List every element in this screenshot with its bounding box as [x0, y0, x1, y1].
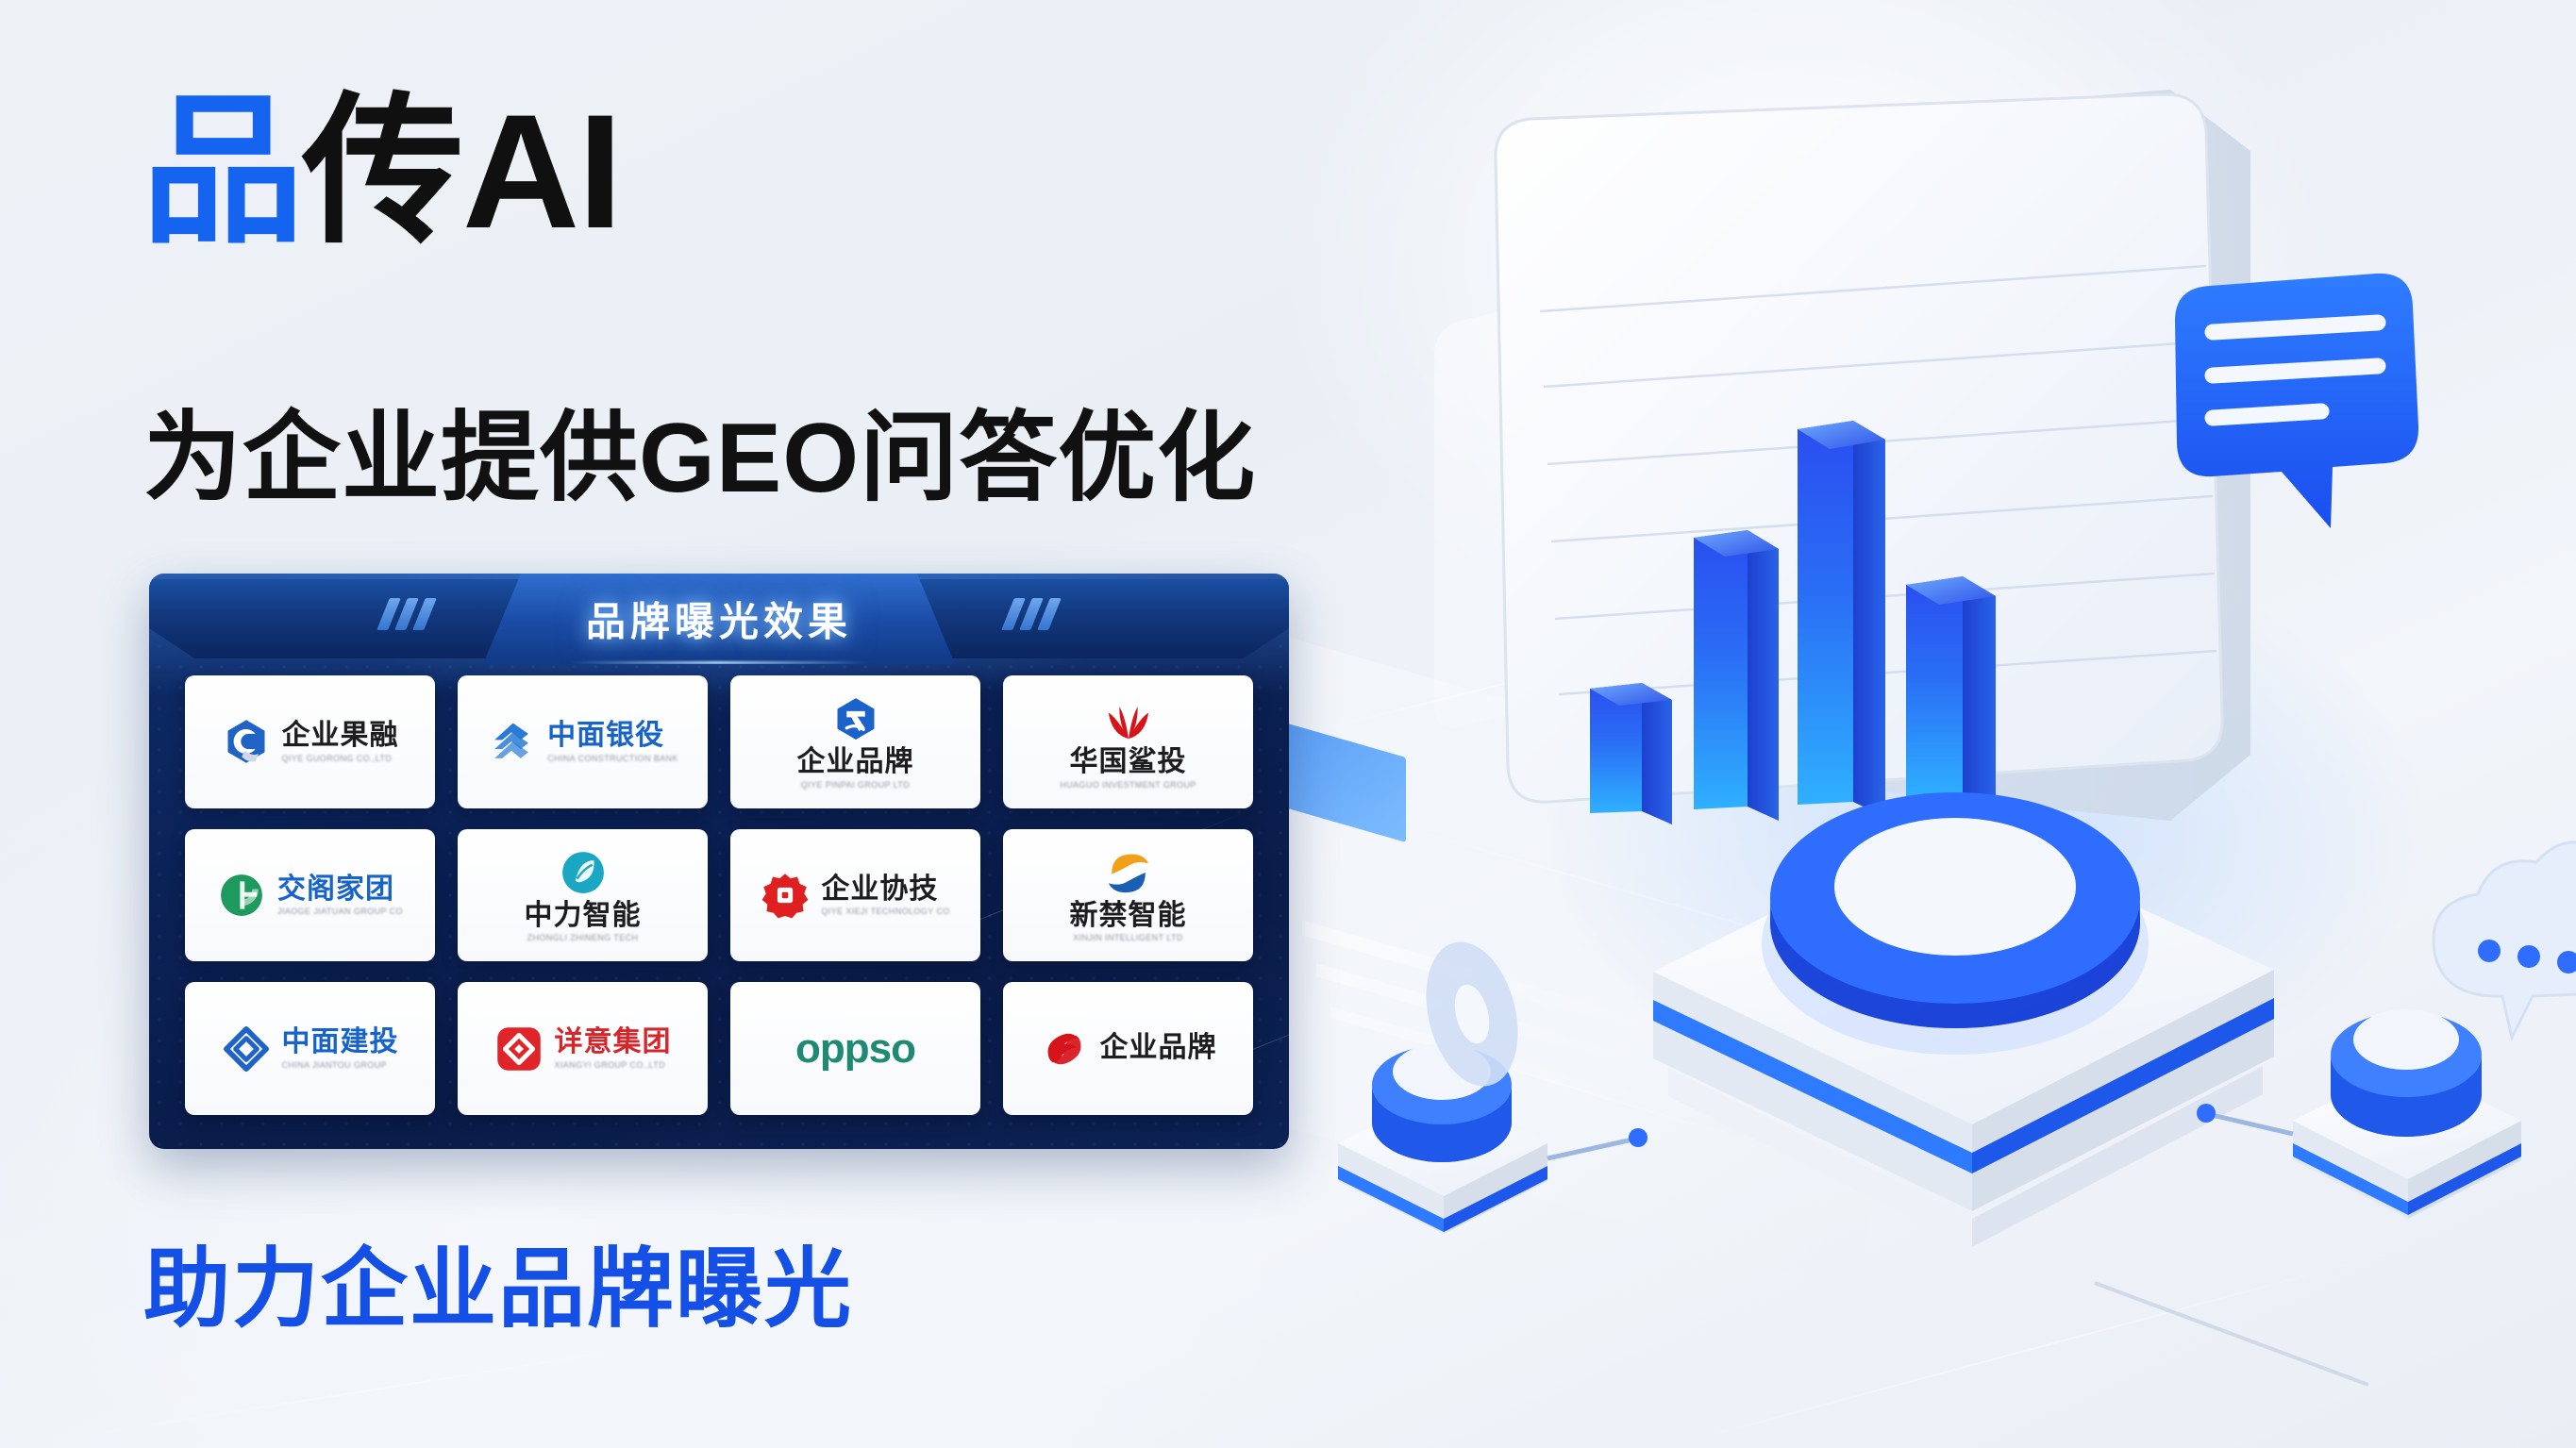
brand-name-block: 企业品牌QIYE PINPAI GROUP LTD [797, 747, 914, 789]
brand-name-block: 中面银役CHINA CONSTRUCTION BANK [547, 721, 678, 762]
brand-exposure-panel: 品牌曝光效果 企业果融QIYE GUORONG CO.,LTD 中面银役CHIN… [149, 574, 1289, 1149]
brand-name-cn: 中力智能 [525, 901, 642, 931]
header-slash-decor-right [1008, 598, 1055, 630]
brand-name-cn: 企业果融 [282, 721, 399, 751]
brand-name-pinyin: QIYE XIEJI TECHNOLOGY CO [821, 907, 949, 916]
sq-diamond-icon [494, 1024, 544, 1074]
brand-name-pinyin: QIYE GUORONG CO.,LTD [282, 754, 393, 763]
brand-name-pinyin: ZHONGLI ZHINENG TECH [527, 933, 639, 942]
brand-name-cn: 企业品牌 [1100, 1033, 1217, 1063]
chart-card [1496, 90, 2250, 824]
title-rest: 传AI [302, 81, 621, 262]
brand-name-block: 企业果融QIYE GUORONG CO.,LTD [282, 721, 399, 762]
brand-logo-card[interactable]: 企业品牌 [1003, 982, 1253, 1115]
brand-logo-grid: 企业果融QIYE GUORONG CO.,LTD 中面银役CHINA CONST… [185, 675, 1253, 1115]
node-pedestal-left [1338, 932, 1648, 1234]
brand-name-block: 详意集团XIANGYI GROUP CO.,LTD [555, 1027, 672, 1069]
circle-leaf-icon [559, 848, 608, 897]
gear-icon [761, 871, 810, 920]
bar-2 [1694, 530, 1779, 821]
brand-wordmark: oppso [795, 1025, 915, 1073]
brand-name-cn: 华国鲨投 [1070, 747, 1187, 777]
brand-name-cn: 中面建投 [282, 1027, 399, 1057]
brand-name-cn: 企业品牌 [797, 747, 914, 777]
wave-s-icon [487, 717, 536, 766]
ring-disc [1762, 792, 2149, 1055]
brand-name-block: 华国鲨投HUAGUO INVESTMENT GROUP [1060, 747, 1196, 789]
brand-name-pinyin: XINJIN INTELLIGENT LTD [1073, 933, 1183, 942]
brand-logo-card[interactable]: 中力智能ZHONGLI ZHINENG TECH [458, 829, 708, 962]
fan-icon [1104, 694, 1153, 743]
brand-logo-card[interactable]: 交阁家团JIAOGE JIATUAN GROUP CO [185, 829, 435, 962]
brand-logo-card[interactable]: oppso [730, 982, 980, 1115]
page-subtitle: 为企业提供GEO问答优化 [143, 377, 1256, 520]
brand-name-pinyin: JIAOGE JIATUAN GROUP CO [277, 907, 403, 916]
circle-g-icon [217, 871, 266, 920]
brand-name-block: 中面建投CHINA JIANTOU GROUP [282, 1027, 399, 1069]
illustration-svg [1321, 0, 2576, 1448]
brand-logo-card[interactable]: 华国鲨投HUAGUO INVESTMENT GROUP [1003, 675, 1253, 808]
brand-name-cn: 交阁家团 [277, 874, 394, 905]
page-footer-text: 助力企业品牌曝光 [143, 1219, 853, 1344]
bar-3 [1798, 421, 1885, 817]
brand-name-pinyin: CHINA JIANTOU GROUP [282, 1060, 387, 1070]
brand-logo-card[interactable]: 新禁智能XINJIN INTELLIGENT LTD [1003, 829, 1253, 962]
panel-header-title: 品牌曝光效果 [586, 591, 852, 648]
panel-header: 品牌曝光效果 [149, 574, 1289, 664]
diamond-icon [222, 1024, 271, 1074]
brand-name-pinyin: QIYE PINPAI GROUP LTD [801, 780, 910, 790]
brand-name-pinyin: XIANGYI GROUP CO.,LTD [555, 1060, 666, 1070]
brand-logo-card[interactable]: 企业品牌QIYE PINPAI GROUP LTD [730, 675, 980, 808]
brand-logo-card[interactable]: 详意集团XIANGYI GROUP CO.,LTD [458, 982, 708, 1115]
bar-4 [1906, 576, 1996, 812]
brand-name-block: 中力智能ZHONGLI ZHINENG TECH [525, 901, 642, 942]
hex-c-icon [222, 717, 271, 766]
brand-name-cn: 企业协技 [821, 874, 938, 905]
ground-line [2095, 1283, 2368, 1385]
cloud-bubble-icon [2434, 842, 2576, 1038]
brand-logo-card[interactable]: 企业协技QIYE XIEJI TECHNOLOGY CO [730, 829, 980, 962]
title-highlight: 品 [142, 81, 302, 262]
hero-illustration-3d [1321, 0, 2576, 1448]
brand-name-block: 企业协技QIYE XIEJI TECHNOLOGY CO [821, 874, 949, 916]
page-title: 品传AI [142, 91, 621, 253]
brand-name-pinyin: CHINA CONSTRUCTION BANK [547, 754, 678, 763]
brand-name-cn: 中面银役 [547, 721, 664, 751]
brand-logo-card[interactable]: 中面银役CHINA CONSTRUCTION BANK [458, 675, 708, 808]
hex-ali-icon [831, 694, 880, 743]
swirl-icon [1104, 848, 1153, 897]
brand-logo-card[interactable]: 企业果融QIYE GUORONG CO.,LTD [185, 675, 435, 808]
brand-name-block: 企业品牌 [1100, 1033, 1217, 1063]
header-slash-decor-left [383, 598, 430, 630]
brand-name-cn: 新禁智能 [1070, 901, 1187, 931]
bar-1 [1590, 683, 1672, 824]
brand-name-block: 交阁家团JIAOGE JIATUAN GROUP CO [277, 874, 403, 916]
brand-logo-card[interactable]: 中面建投CHINA JIANTOU GROUP [185, 982, 435, 1115]
brand-name-cn: 详意集团 [555, 1027, 672, 1057]
brand-name-block: 新禁智能XINJIN INTELLIGENT LTD [1070, 901, 1187, 942]
brand-name-pinyin: HUAGUO INVESTMENT GROUP [1060, 780, 1196, 790]
ribbon-icon [1040, 1024, 1089, 1074]
